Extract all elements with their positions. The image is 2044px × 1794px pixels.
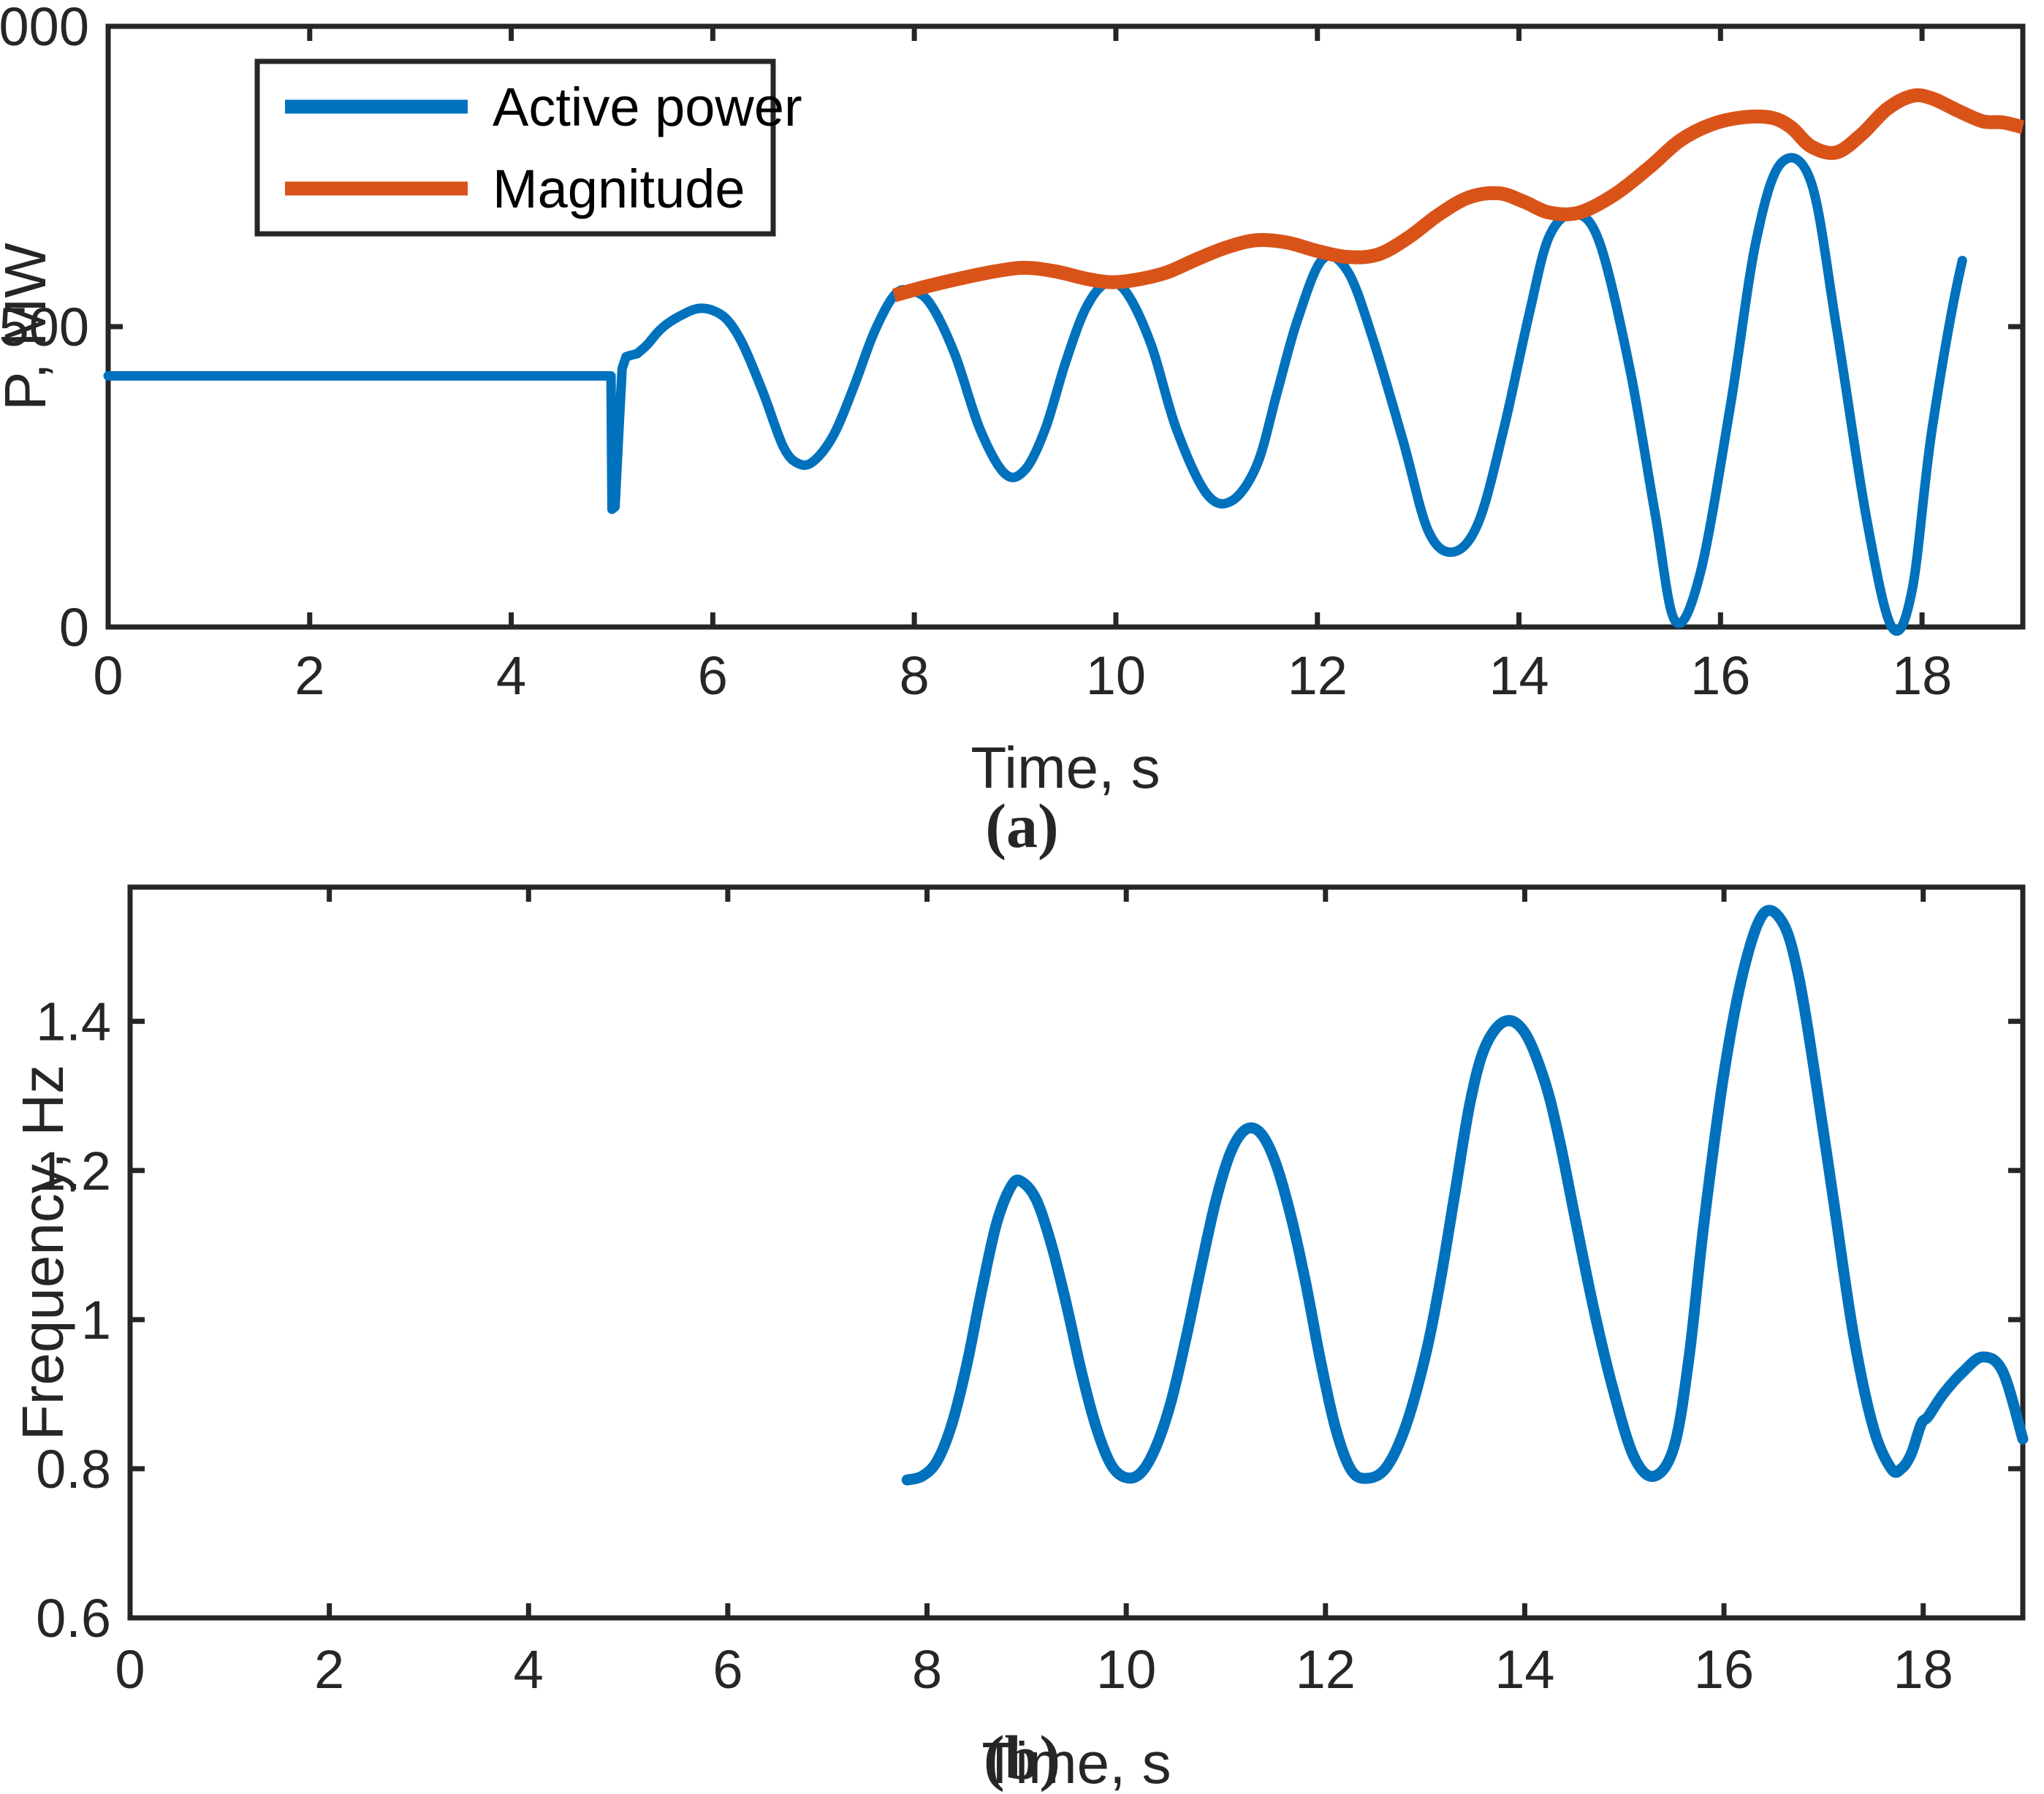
y-tick-label: 1.4 [36,992,111,1052]
x-tick-label: 0 [115,1639,145,1700]
y-axis-title: P, MW [0,243,58,411]
panel-b-svg: 0246810121416180.60.811.21.4Time, sFrequ… [0,862,2044,1794]
y-tick-label: 0 [59,597,89,658]
x-tick-label: 16 [1694,1639,1754,1700]
y-tick-label: 0.8 [36,1439,111,1500]
x-tick-label: 18 [1892,645,1952,706]
x-tick-label: 2 [314,1639,344,1700]
x-tick-label: 4 [514,1639,544,1700]
series-line-active-power-transient [108,354,637,509]
x-tick-label: 2 [295,645,324,706]
y-tick-label: 1000 [0,0,89,57]
x-tick-label: 18 [1893,1639,1953,1700]
x-tick-label: 12 [1288,645,1348,706]
panel-b-caption: (b) [984,1722,1060,1793]
y-tick-label: 1 [81,1290,111,1350]
y-axis-title: Frequency, Hz [10,1065,75,1440]
x-tick-label: 8 [900,645,930,706]
legend: Active powerMagnitude [257,61,802,234]
figure-root: 02468101214161805001000Time, sP, MWActiv… [0,0,2044,1794]
x-tick-label: 10 [1086,645,1146,706]
x-tick-label: 6 [713,1639,742,1700]
series-line-active-power [637,158,1962,631]
panel-b-caption-wrap: (b) [0,1721,2044,1794]
panel-b-frequency-chart: 0246810121416180.60.811.21.4Time, sFrequ… [0,862,2044,1794]
x-tick-label: 16 [1690,645,1750,706]
y-tick-label: 0.6 [36,1588,111,1649]
x-tick-label: 4 [496,645,526,706]
x-tick-label: 10 [1096,1639,1156,1700]
series-line-frequency [907,911,2023,1480]
legend-label-1: Magnitude [493,159,745,219]
legend-label-0: Active power [493,77,802,137]
x-tick-label: 8 [912,1639,942,1700]
panel-a-active-power-chart: 02468101214161805001000Time, sP, MWActiv… [0,0,2044,862]
x-tick-label: 6 [698,645,728,706]
series-line-magnitude [894,95,2023,295]
x-tick-label: 0 [93,645,123,706]
x-tick-label: 14 [1494,1639,1554,1700]
x-tick-label: 14 [1489,645,1549,706]
x-tick-label: 12 [1296,1639,1356,1700]
panel-a-caption: (a) [985,791,1058,861]
panel-a-svg: 02468101214161805001000Time, sP, MWActiv… [0,0,2044,862]
panel-a-caption-wrap: (a) [0,789,2044,862]
